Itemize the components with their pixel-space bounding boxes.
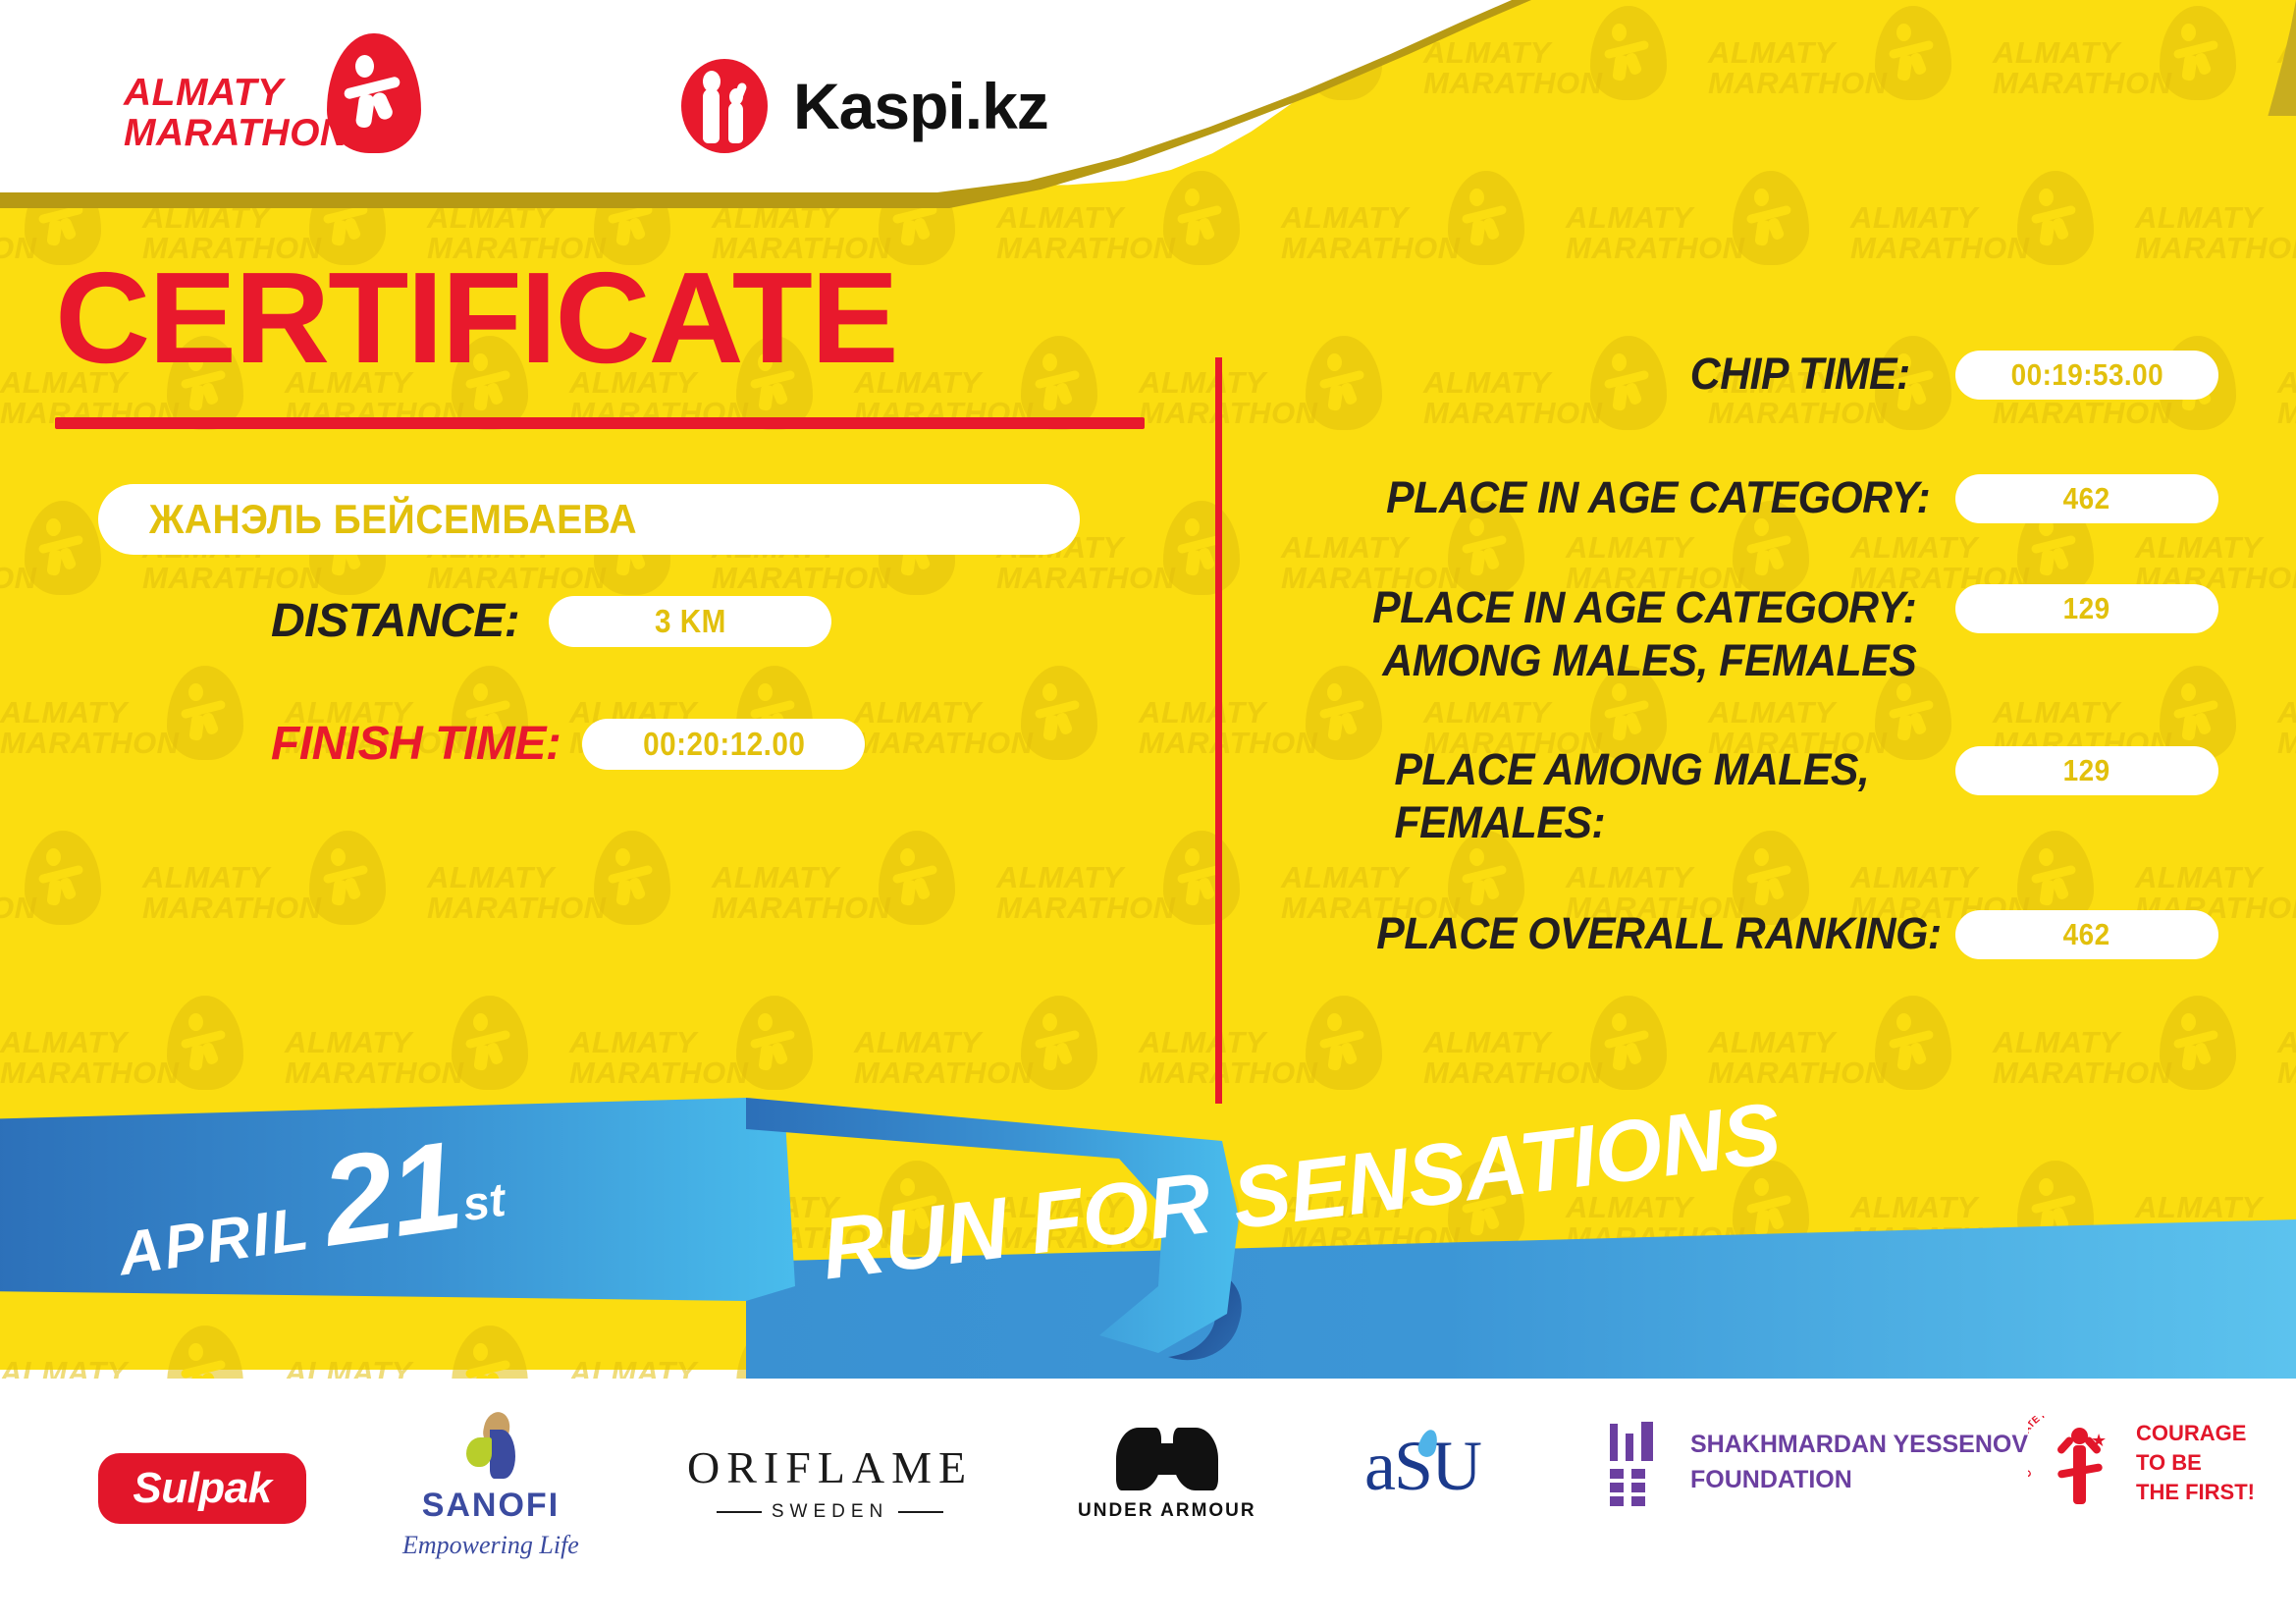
column-divider [1215,357,1222,1104]
distance-value: 3 KM [655,603,726,640]
result-row-place-among-gender: PLACE AMONG MALES, FEMALES: 129 [1227,743,2218,849]
place-age-category-value-field: 462 [1955,474,2218,523]
place-age-category-value: 462 [2063,481,2110,516]
place-age-category-gender-value: 129 [2063,591,2110,626]
finish-time-label: FINISH TIME: [271,717,561,771]
place-age-category-gender-value-field: 129 [1955,584,2218,633]
sponsor-under-armour: UNDER ARMOUR [1078,1428,1256,1522]
asu-logo: aSU [1364,1426,1480,1507]
chip-time-value-field: 00:19:53.00 [1955,351,2218,400]
kaspi-people-icon [681,59,768,153]
courage-logo: CORPORATE FUND ★ COURAGE TO BE THE FIRST… [2032,1416,2255,1510]
almaty-marathon-line1: ALMATY [124,72,284,114]
yessenov-line2: FOUNDATION [1690,1466,1852,1493]
marathon-runner-icon [344,55,404,130]
certificate-canvas: ALMATYMARATHONALMATYMARATHONALMATYMARATH… [0,0,2296,1624]
result-row-place-overall: PLACE OVERALL RANKING: 462 [1227,907,2218,960]
finish-time-value: 00:20:12.00 [643,726,805,763]
place-age-category-gender-label: PLACE IN AGE CATEGORY: AMONG MALES, FEMA… [1372,581,1916,687]
yessenov-grid-icon [1610,1422,1669,1502]
almaty-marathon-logo: ALMATY MARATHON [124,55,448,163]
place-overall-value: 462 [2063,917,2110,952]
place-among-gender-label-line2: FEMALES: [1394,797,1605,847]
kaspi-logo-text: Kaspi.kz [793,69,1048,143]
chip-time-label: CHIP TIME: [1690,348,1910,401]
yessenov-line1: SHAKHMARDAN YESSENOV [1690,1431,2028,1458]
under-armour-logo-text: UNDER ARMOUR [1078,1500,1256,1522]
courage-logo-text: COURAGE TO BE THE FIRST! [2136,1419,2255,1507]
place-among-gender-label: PLACE AMONG MALES, FEMALES: [1394,743,1869,849]
page-title: CERTIFICATE [55,253,897,383]
courage-line3: THE FIRST! [2136,1480,2255,1504]
distance-label: DISTANCE: [271,594,519,648]
finish-time-row: FINISH TIME: 00:20:12.00 [271,717,865,771]
sponsor-sulpak: Sulpak [98,1453,306,1524]
place-overall-label: PLACE OVERALL RANKING: [1377,907,1942,960]
kaspi-logo: Kaspi.kz [681,59,1048,153]
courage-star-icon: ★ [2091,1432,2107,1449]
chip-time-value: 00:19:53.00 [2010,357,2163,393]
sponsor-oriflame: ORIFLAME SWEDEN [687,1441,973,1523]
almaty-marathon-logo-text: ALMATY MARATHON [124,73,348,153]
sulpak-logo: Sulpak [98,1453,306,1524]
participant-name-value: ЖАНЭЛЬ БЕЙСЕМБАЕВА [149,496,637,543]
oriflame-rule-left [717,1511,762,1513]
result-row-place-age-category-gender: PLACE IN AGE CATEGORY: AMONG MALES, FEMA… [1227,581,2218,687]
sponsor-yessenov-foundation: SHAKHMARDAN YESSENOV FOUNDATION [1610,1422,2028,1502]
under-armour-icon [1116,1428,1218,1490]
participant-name-field: ЖАНЭЛЬ БЕЙСЕМБАЕВА [98,484,1080,555]
yessenov-logo: SHAKHMARDAN YESSENOV FOUNDATION [1610,1422,2028,1502]
distance-row: DISTANCE: 3 KM [271,594,831,648]
sponsor-sanofi: SANOFI Empowering Life [402,1412,579,1560]
place-age-category-gender-label-line2: AMONG MALES, FEMALES [1382,635,1916,685]
oriflame-sub-text: SWEDEN [772,1501,888,1523]
place-age-category-gender-label-line1: PLACE IN AGE CATEGORY: [1372,582,1916,632]
place-among-gender-value: 129 [2063,753,2110,788]
courage-figure-icon: CORPORATE FUND ★ [2032,1416,2122,1510]
almaty-marathon-line2: MARATHON [124,112,348,154]
place-overall-value-field: 462 [1955,910,2218,959]
sponsor-asu: aSU [1364,1426,1480,1507]
result-row-chip-time: CHIP TIME: 00:19:53.00 [1227,348,2218,401]
sponsor-courage-fund: CORPORATE FUND ★ COURAGE TO BE THE FIRST… [2032,1416,2255,1510]
sanofi-icon [460,1412,521,1481]
yessenov-logo-text: SHAKHMARDAN YESSENOV FOUNDATION [1690,1427,2028,1497]
sulpak-logo-text: Sulpak [133,1464,271,1513]
place-among-gender-label-line1: PLACE AMONG MALES, [1394,744,1869,794]
distance-value-field: 3 KM [549,596,831,647]
oriflame-sub-row: SWEDEN [717,1501,943,1523]
sponsor-strip: Sulpak SANOFI Empowering Life ORIFLAME S… [0,1379,2296,1624]
sanofi-tagline: Empowering Life [402,1531,579,1560]
sanofi-logo-text: SANOFI [422,1487,560,1525]
courage-line2: TO BE [2136,1450,2202,1475]
place-age-category-label: PLACE IN AGE CATEGORY: [1386,471,1930,524]
finish-time-value-field: 00:20:12.00 [582,719,865,770]
place-among-gender-value-field: 129 [1955,746,2218,795]
courage-line1: COURAGE [2136,1421,2246,1445]
result-row-place-age-category: PLACE IN AGE CATEGORY: 462 [1227,471,2218,524]
title-divider-rule [55,417,1145,429]
oriflame-logo-text: ORIFLAME [687,1441,973,1493]
header-logo-row: ALMATY MARATHON Kaspi.kz [0,0,1512,192]
courage-person-icon: ★ [2057,1428,2101,1506]
oriflame-rule-right [898,1511,943,1513]
